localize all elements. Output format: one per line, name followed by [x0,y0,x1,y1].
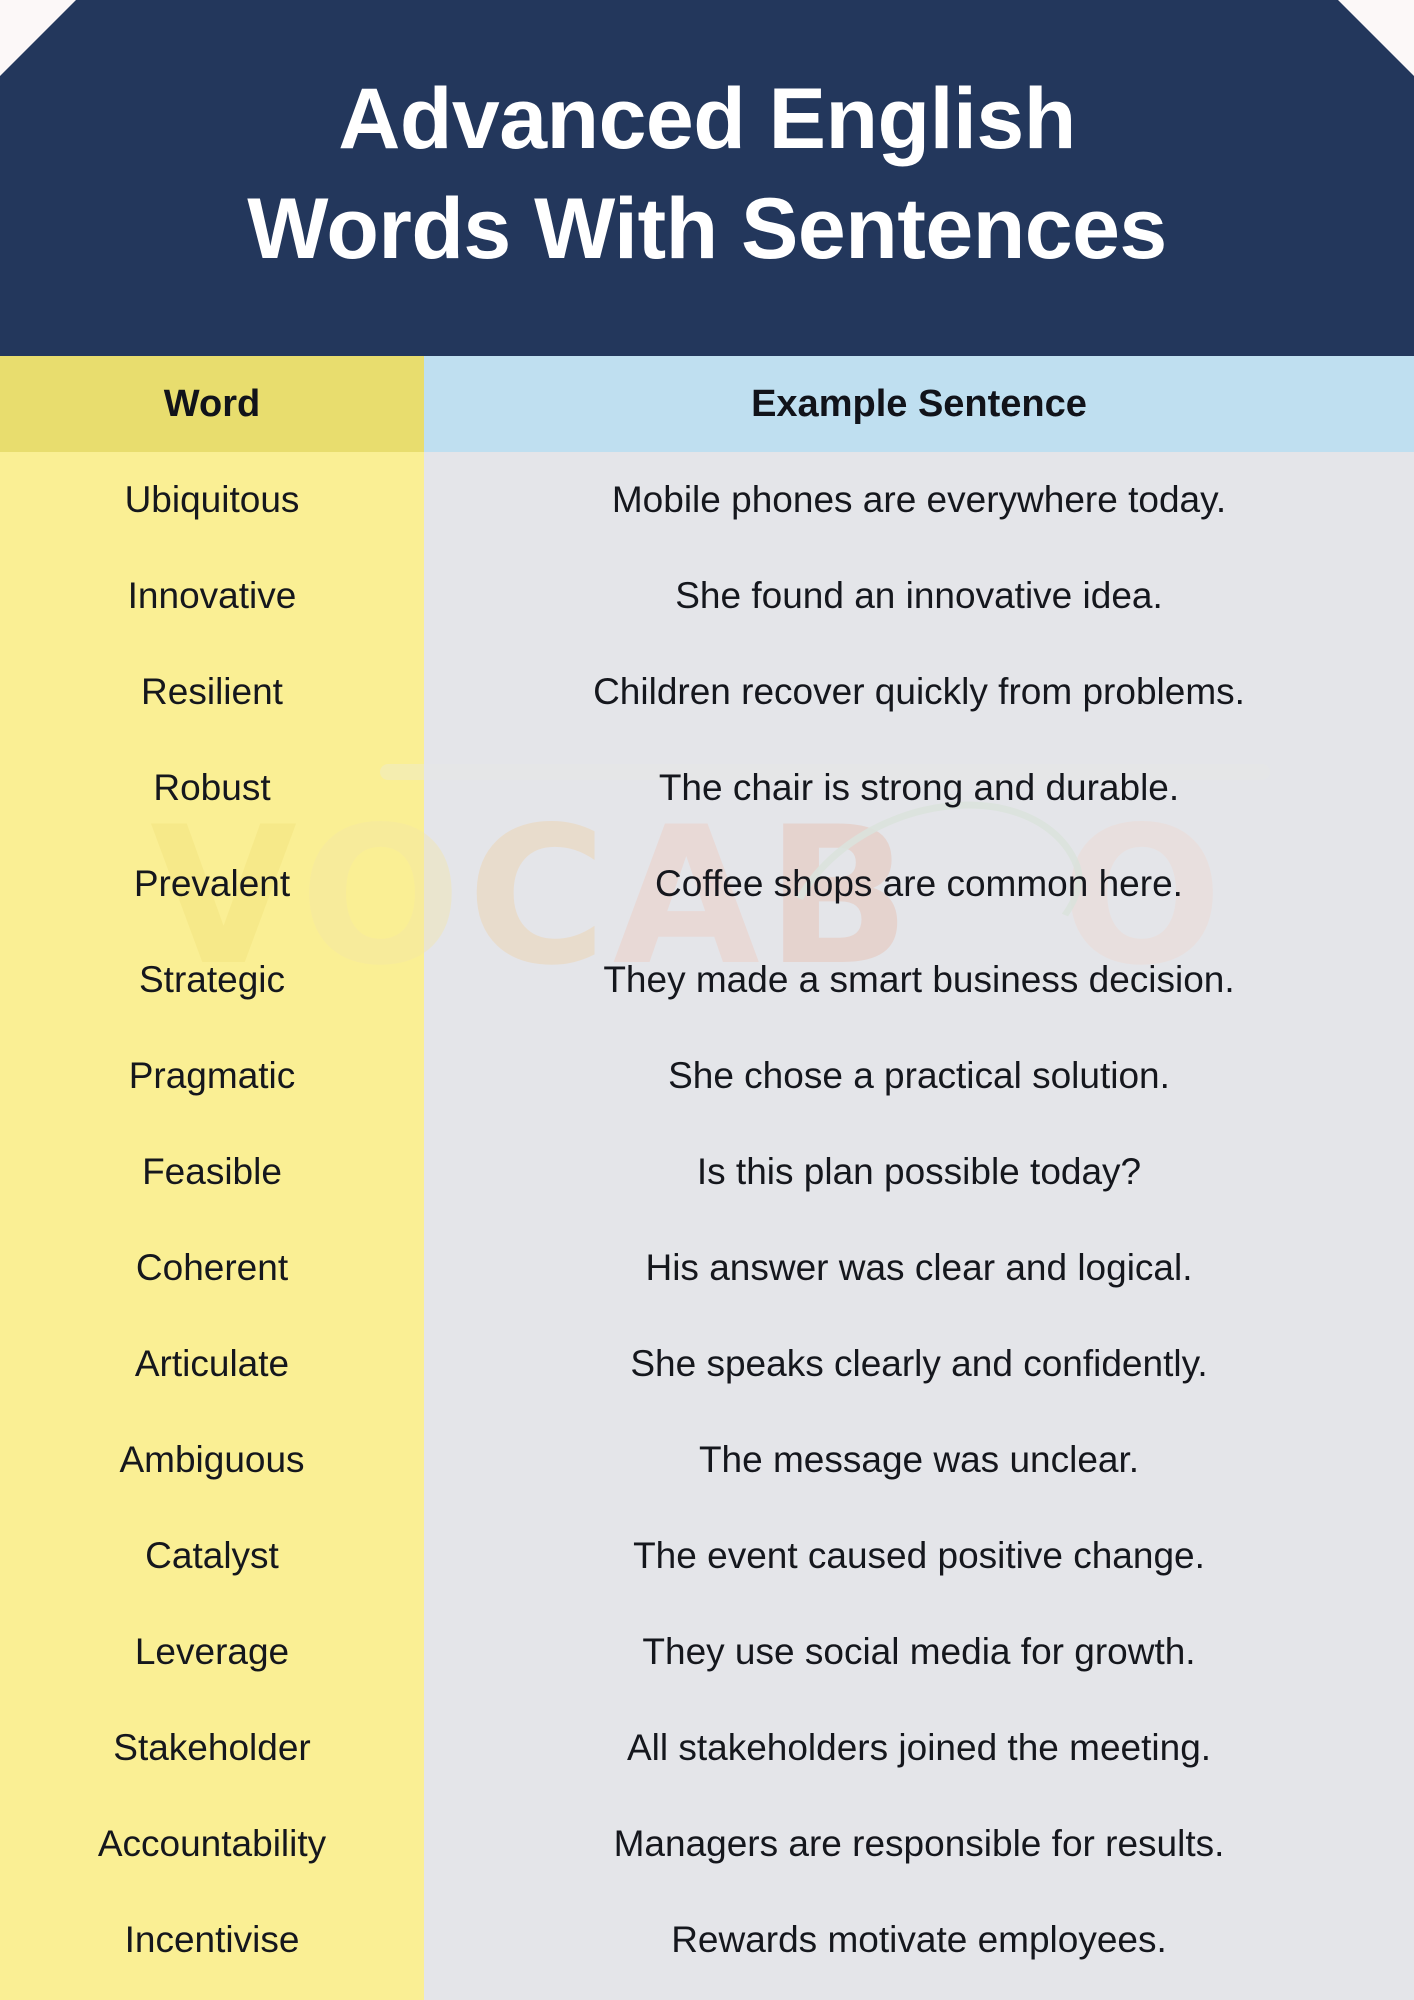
cell-example-sentence: The message was unclear. [424,1412,1414,1508]
cell-word: Accountability [0,1796,424,1892]
table-row: PrevalentCoffee shops are common here. [0,836,1414,932]
cell-example-sentence: Children recover quickly from problems. [424,644,1414,740]
vocabulary-table: Word Example Sentence VOCAB O Ubiquitous… [0,356,1414,2000]
column-header-word: Word [0,356,424,452]
table-row: ArticulateShe speaks clearly and confide… [0,1316,1414,1412]
cell-example-sentence: They use social media for growth. [424,1604,1414,1700]
cell-example-sentence: His answer was clear and logical. [424,1220,1414,1316]
table-rows: UbiquitousMobile phones are everywhere t… [0,452,1414,2000]
table-row: RobustThe chair is strong and durable. [0,740,1414,836]
cell-example-sentence: She found an innovative idea. [424,548,1414,644]
cell-word: Incentivise [0,1892,424,1988]
table-row: AccountabilityManagers are responsible f… [0,1796,1414,1892]
cell-word: Ambiguous [0,1412,424,1508]
cell-example-sentence: Managers are responsible for results. [424,1796,1414,1892]
cell-example-sentence: Is this plan possible today? [424,1124,1414,1220]
cell-example-sentence: All stakeholders joined the meeting. [424,1700,1414,1796]
cell-example-sentence: Rewards motivate employees. [424,1892,1414,1988]
cell-word: Pragmatic [0,1028,424,1124]
cell-word: Innovative [0,548,424,644]
table-row: StakeholderAll stakeholders joined the m… [0,1700,1414,1796]
cell-example-sentence: They made a smart business decision. [424,932,1414,1028]
table-row: IncentiviseRewards motivate employees. [0,1892,1414,1988]
title-banner: Advanced English Words With Sentences [0,0,1414,356]
cell-example-sentence: The event caused positive change. [424,1508,1414,1604]
page-title: Advanced English Words With Sentences [247,64,1166,284]
cell-word: Articulate [0,1316,424,1412]
cell-example-sentence: The chair is strong and durable. [424,740,1414,836]
cell-example-sentence: She chose a practical solution. [424,1028,1414,1124]
table-row: StrategicThey made a smart business deci… [0,932,1414,1028]
table-header-row: Word Example Sentence [0,356,1414,452]
table-row: PragmaticShe chose a practical solution. [0,1028,1414,1124]
table-row: ResilientChildren recover quickly from p… [0,644,1414,740]
cell-word: Prevalent [0,836,424,932]
cell-word: Catalyst [0,1508,424,1604]
table-row: UbiquitousMobile phones are everywhere t… [0,452,1414,548]
table-row: InnovativeShe found an innovative idea. [0,548,1414,644]
cell-word: Ubiquitous [0,452,424,548]
cell-word: Robust [0,740,424,836]
table-body: VOCAB O UbiquitousMobile phones are ever… [0,452,1414,2000]
cell-word: Coherent [0,1220,424,1316]
table-row: CoherentHis answer was clear and logical… [0,1220,1414,1316]
table-row: LeverageThey use social media for growth… [0,1604,1414,1700]
table-row: CatalystThe event caused positive change… [0,1508,1414,1604]
cell-word: Strategic [0,932,424,1028]
table-row: AmbiguousThe message was unclear. [0,1412,1414,1508]
cell-word: Feasible [0,1124,424,1220]
cell-word: Resilient [0,644,424,740]
cell-example-sentence: Coffee shops are common here. [424,836,1414,932]
cell-example-sentence: She speaks clearly and confidently. [424,1316,1414,1412]
cell-example-sentence: Mobile phones are everywhere today. [424,452,1414,548]
cell-word: Leverage [0,1604,424,1700]
cell-word: Stakeholder [0,1700,424,1796]
poster-root: Advanced English Words With Sentences Wo… [0,0,1414,2000]
table-row: FeasibleIs this plan possible today? [0,1124,1414,1220]
column-header-example-sentence: Example Sentence [424,356,1414,452]
